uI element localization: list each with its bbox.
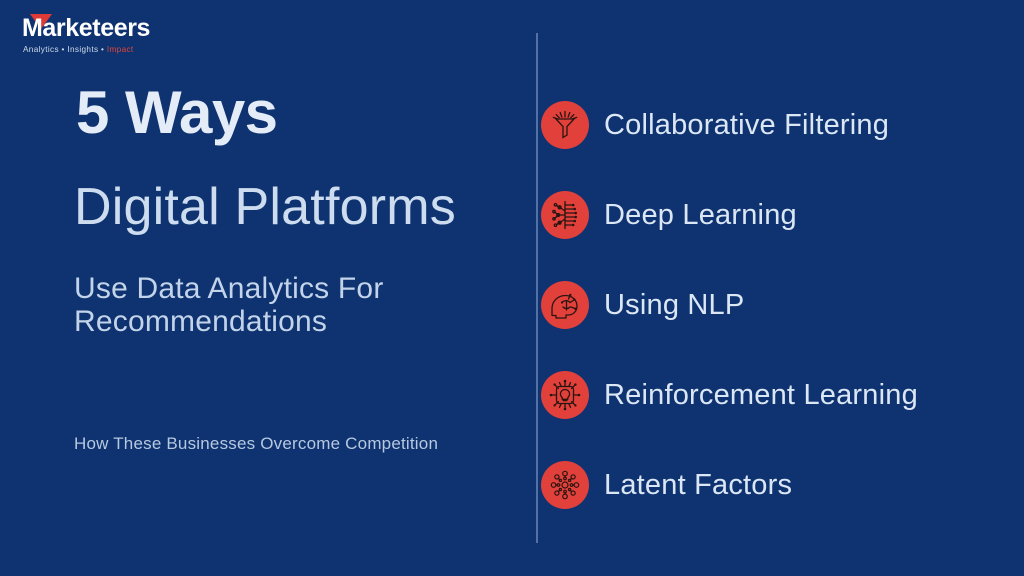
list-item[interactable]: Using NLP <box>541 276 918 334</box>
feature-list: Collaborative Filtering <box>541 96 918 546</box>
list-item-label: Using NLP <box>604 289 744 322</box>
list-item[interactable]: Latent Factors <box>541 456 918 514</box>
brand-logo: Marketeers Analytics • Insights • Impact <box>22 14 150 56</box>
neural-network-icon <box>541 191 589 239</box>
logo-tagline-sep-2: • <box>98 45 106 54</box>
list-item[interactable]: Reinforcement Learning <box>541 366 918 424</box>
list-item-label: Deep Learning <box>604 199 797 232</box>
logo-tagline: Analytics • Insights • Impact <box>23 44 134 55</box>
page-tagline: Use Data Analytics For Recommendations <box>74 272 474 338</box>
logo-wordmark: Marketeers <box>22 14 150 43</box>
funnel-filter-icon <box>541 101 589 149</box>
list-item-label: Collaborative Filtering <box>604 109 889 142</box>
list-item[interactable]: Deep Learning <box>541 186 918 244</box>
molecule-network-icon <box>541 461 589 509</box>
list-item[interactable]: Collaborative Filtering <box>541 96 918 154</box>
logo-tagline-insights: Insights <box>67 45 98 54</box>
presentation-slide: Marketeers Analytics • Insights • Impact… <box>0 0 1024 576</box>
logo-tagline-impact: Impact <box>107 45 134 54</box>
list-item-label: Reinforcement Learning <box>604 379 918 412</box>
list-item-label: Latent Factors <box>604 469 792 502</box>
logo-tagline-analytics: Analytics <box>23 45 59 54</box>
lightbulb-network-icon <box>541 371 589 419</box>
head-brain-icon <box>541 281 589 329</box>
page-title: 5 Ways <box>76 80 278 146</box>
page-footnote: How These Businesses Overcome Competitio… <box>74 433 438 454</box>
page-subtitle: Digital Platforms <box>74 176 456 238</box>
vertical-divider <box>536 33 538 543</box>
